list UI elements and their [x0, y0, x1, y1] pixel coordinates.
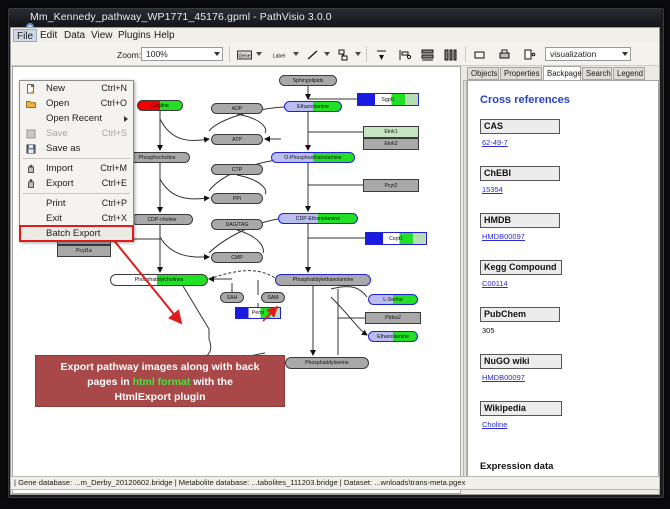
toolbar-separator-2 — [366, 46, 367, 62]
menu-separator — [23, 158, 130, 159]
tab-search[interactable]: Search — [582, 67, 612, 80]
backpage-section-hmdb: HMDB — [480, 213, 560, 228]
file-menu-item-label: Open — [46, 98, 69, 109]
pathway-node-pemt[interactable]: Pemt — [235, 307, 281, 319]
print-icon[interactable] — [496, 47, 513, 63]
pathway-node-pcyt1a[interactable]: Pcyt1a — [57, 245, 111, 257]
file-menu-item-accelerator: Ctrl+M — [100, 161, 127, 176]
pathway-node-label: Pcyt1a — [76, 248, 92, 254]
label-dropdown-arrow-icon[interactable] — [293, 52, 299, 56]
open-folder-icon — [26, 99, 36, 109]
pathway-node-label: Ethanolamine — [297, 104, 329, 110]
backpage-section-pubchem: PubChem — [480, 307, 560, 322]
pathway-node-etnk1[interactable]: Etnk1 — [363, 126, 419, 138]
backpage-value-chebi[interactable]: 15354 — [482, 185, 503, 194]
pathway-node-cept1[interactable]: Cept1 — [365, 232, 427, 245]
expression-data-header: Expression data — [480, 461, 553, 472]
menu-edit[interactable]: Edit — [36, 29, 61, 42]
file-menu-item-accelerator: Ctrl+E — [102, 176, 127, 191]
pathway-node-atp[interactable]: ATP — [211, 134, 263, 145]
file-menu-item-label: Open Recent — [46, 113, 102, 124]
export-icon — [26, 179, 36, 189]
pathway-node-label: Ethanolamine — [377, 334, 409, 340]
tab-objects[interactable]: Objects — [467, 67, 499, 80]
backpage-value-pubchem: 305 — [482, 326, 495, 335]
file-menu-item-label: Save — [46, 128, 68, 139]
pathway-node-sphingolipids[interactable]: Sphingolipids — [279, 75, 337, 86]
pathway-node-label: Phosphatidylcholines — [135, 277, 184, 283]
pathway-node-ethanolamine2[interactable]: Ethanolamine — [368, 331, 418, 342]
toolbar-separator — [229, 46, 230, 62]
toolbar-separator-3 — [465, 46, 466, 62]
file-menu-item-export[interactable]: ExportCtrl+E — [20, 176, 133, 191]
line-dropdown-arrow-icon[interactable] — [324, 52, 330, 56]
pathway-node-ctp[interactable]: CTP — [211, 164, 263, 175]
backpage-value-kegg-compound[interactable]: C00114 — [482, 279, 508, 288]
interaction-dropdown-arrow-icon[interactable] — [355, 52, 361, 56]
screen: Mm_Kennedy_pathway_WP1771_45176.gpml - P… — [0, 0, 670, 509]
callout-highlight: html format — [133, 376, 191, 388]
zoom-combo[interactable]: 100% — [141, 47, 223, 61]
file-menu-item-import[interactable]: ImportCtrl+M — [20, 161, 133, 176]
pathway-node-label: ATP — [232, 137, 242, 143]
tab-backpage[interactable]: Backpage — [543, 66, 581, 81]
callout-annotation: Export pathway images along with back pa… — [35, 355, 285, 407]
tab-properties[interactable]: Properties — [500, 67, 542, 80]
visualization-value: visualization — [550, 49, 596, 59]
file-menu-item-accelerator: Ctrl+S — [102, 126, 127, 141]
pathway-node-label: PPi — [233, 196, 241, 202]
file-menu-item-label: Print — [46, 198, 66, 209]
file-menu-item-label: Import — [46, 163, 73, 174]
backpage-title: Cross references — [480, 94, 570, 106]
stack-icon[interactable] — [419, 47, 436, 63]
pathway-node-lserine[interactable]: L-Serine — [368, 294, 418, 305]
copy-icon[interactable] — [521, 47, 538, 63]
pathway-node-label: ADP — [232, 106, 243, 112]
file-menu-item-label: Batch Export — [46, 228, 100, 239]
menu-file[interactable]: File — [13, 29, 37, 42]
backpage-section-nugo-wiki: NuGO wiki — [480, 354, 562, 369]
pathway-node-ptdss2[interactable]: Ptdss2 — [365, 312, 421, 324]
pathway-node-pcyt2[interactable]: Pcyt2 — [363, 179, 419, 192]
callout-line2a: pages in — [87, 376, 133, 388]
menu-data[interactable]: Data — [60, 29, 89, 42]
file-menu-item-accelerator: Ctrl+N — [101, 81, 127, 96]
file-menu-item-batch-export[interactable]: Batch Export — [20, 226, 133, 241]
pathway-node-sah[interactable]: SAH — [220, 292, 244, 303]
pathway-node-ptdcholines[interactable]: Phosphatidylcholines — [110, 274, 208, 286]
pathway-node-dagtag[interactable]: DAG/TAG — [211, 219, 263, 230]
pathway-node-label: Choline — [151, 103, 169, 109]
callout-line3: HtmlExport plugin — [115, 391, 206, 403]
file-menu-item-new[interactable]: NewCtrl+N — [20, 81, 133, 96]
datanode-tool-button[interactable]: Gene — [235, 47, 254, 63]
pathway-node-label: Pcyt2 — [385, 183, 398, 189]
menu-view[interactable]: View — [87, 29, 117, 42]
menu-bar: File Edit Data View Plugins Help — [11, 28, 659, 44]
backpage-value-nugo-wiki[interactable]: HMDB00097 — [482, 373, 525, 382]
pathway-node-label: CDP-Ethanolamine — [296, 216, 340, 222]
pathway-node-label: CMP — [231, 255, 243, 261]
file-menu-item-save: SaveCtrl+S — [20, 126, 133, 141]
new-document-icon — [26, 84, 36, 94]
file-menu-item-exit[interactable]: ExitCtrl+X — [20, 211, 133, 226]
backpage-value-wikipedia[interactable]: Choline — [482, 420, 507, 429]
file-menu-item-label: Exit — [46, 213, 62, 224]
file-menu-item-label: Export — [46, 178, 73, 189]
pathway-node-label: O-Phosphoethanolamine — [284, 155, 341, 161]
backpage-value-cas[interactable]: 62-49-7 — [482, 138, 508, 147]
side-panel: Objects Properties Backpage Search Legen… — [463, 66, 659, 494]
file-menu-item-open[interactable]: OpenCtrl+O — [20, 96, 133, 111]
file-menu-item-accelerator: Ctrl+P — [102, 196, 127, 211]
label-tool-button[interactable]: Label — [267, 47, 291, 63]
file-menu-dropdown[interactable]: NewCtrl+NOpenCtrl+OOpen RecentSaveCtrl+S… — [19, 80, 134, 242]
pathway-node-label: Ptdss2 — [385, 315, 401, 321]
pathway-node-label: L-Serine — [383, 297, 403, 303]
size-icon[interactable] — [471, 47, 488, 63]
callout-line2b: with the — [190, 376, 233, 388]
menu-separator — [23, 193, 130, 194]
menu-help[interactable]: Help — [150, 29, 179, 42]
pathway-node-cmp[interactable]: CMP — [211, 252, 263, 263]
pathway-node-ptdeth[interactable]: Phosphatidylethanolamine — [275, 274, 371, 286]
backpage-section-chebi: ChEBI — [480, 166, 560, 181]
pathway-node-label: Etnk2 — [384, 141, 397, 147]
line-tool-button[interactable] — [304, 47, 321, 63]
pathway-node-ethanolamine1[interactable]: Ethanolamine — [284, 101, 342, 112]
file-menu-item-accelerator: Ctrl+X — [102, 211, 127, 226]
backpage-section-cas: CAS — [480, 119, 560, 134]
pathway-node-label: Phosphatidylethanolamine — [293, 277, 354, 283]
import-icon — [26, 164, 36, 174]
pathway-node-choline[interactable]: Choline — [137, 100, 183, 111]
pathway-node-label: Sgpl1 — [381, 97, 394, 103]
toolbar: Zoom: 100% Gene Label — [11, 43, 659, 66]
pathway-node-label: Cept1 — [389, 236, 403, 242]
chevron-down-icon-2 — [622, 52, 628, 56]
tab-legend[interactable]: Legend — [613, 67, 645, 80]
pathway-node-sam[interactable]: SAM — [261, 292, 285, 303]
file-menu-items: NewCtrl+NOpenCtrl+OOpen RecentSaveCtrl+S… — [20, 81, 133, 241]
svg-text:Gene: Gene — [238, 53, 250, 59]
svg-text:Label: Label — [273, 54, 285, 60]
distribute-icon[interactable] — [442, 47, 459, 63]
pathway-node-label: Pemt — [252, 310, 264, 316]
backpage-section-wikipedia: Wikipedia — [480, 401, 562, 416]
pathway-node-cdpcholine[interactable]: CDP-choline — [131, 214, 193, 225]
align-top-icon[interactable] — [373, 47, 390, 63]
pathway-node-ptdserine[interactable]: Phosphatidylserine — [285, 357, 369, 369]
datanode-dropdown-arrow-icon[interactable] — [256, 52, 262, 56]
backpage-content: Cross references CAS62-49-7ChEBI15354HMD… — [467, 80, 659, 480]
pathway-node-ophosphoeth[interactable]: O-Phosphoethanolamine — [271, 152, 355, 163]
zoom-value: 100% — [146, 49, 168, 59]
file-menu-item-accelerator: Ctrl+O — [101, 96, 127, 111]
pathway-node-label: Etnk1 — [384, 129, 397, 135]
side-panel-tabs: Objects Properties Backpage Search Legen… — [467, 66, 659, 80]
backpage-section-kegg-compound: Kegg Compound — [480, 260, 562, 275]
menu-plugins[interactable]: Plugins — [114, 29, 155, 42]
backpage-value-hmdb[interactable]: HMDB00097 — [482, 232, 525, 241]
zoom-label: Zoom: — [117, 50, 141, 60]
pathway-node-label: CDP-choline — [147, 217, 176, 223]
pathway-node-sgpl1[interactable]: Sgpl1 — [357, 93, 419, 106]
pathway-node-label: Phosphatidylserine — [305, 360, 349, 366]
callout-line1: Export pathway images along with back — [61, 361, 260, 373]
chevron-right-icon — [124, 116, 128, 122]
pathway-node-ppi[interactable]: PPi — [211, 193, 263, 204]
align-left-icon[interactable] — [396, 47, 413, 63]
pathway-node-label: SAM — [267, 295, 278, 301]
file-menu-item-label: New — [46, 83, 65, 94]
application-body: File Edit Data View Plugins Help Zoom: 1… — [10, 27, 660, 495]
pathway-node-cdpeth[interactable]: CDP-Ethanolamine — [278, 213, 358, 224]
interaction-tool-button[interactable] — [335, 47, 352, 63]
visualization-combo[interactable]: visualization — [545, 47, 631, 61]
pathway-node-label: CTP — [232, 167, 242, 173]
file-menu-item-open-recent[interactable]: Open Recent — [20, 111, 133, 126]
pathway-node-etnk2[interactable]: Etnk2 — [363, 138, 419, 150]
pathway-node-label: Sphingolipids — [293, 78, 324, 84]
pathway-node-adp[interactable]: ADP — [211, 103, 263, 114]
file-menu-item-label: Save as — [46, 143, 80, 154]
chevron-down-icon — [214, 52, 220, 56]
pathway-node-label: DAG/TAG — [226, 222, 249, 228]
file-menu-item-print[interactable]: PrintCtrl+P — [20, 196, 133, 211]
pathway-node-label: Phosphocholine — [139, 155, 176, 161]
status-bar: | Gene database: ...m_Derby_20120602.bri… — [10, 476, 660, 490]
pathway-node-label: SAH — [227, 295, 238, 301]
save-disk-icon — [26, 129, 36, 139]
file-menu-item-save-as[interactable]: Save as — [20, 141, 133, 156]
save-as-icon — [26, 144, 36, 154]
window-title: Mm_Kennedy_pathway_WP1771_45176.gpml - P… — [30, 11, 332, 23]
